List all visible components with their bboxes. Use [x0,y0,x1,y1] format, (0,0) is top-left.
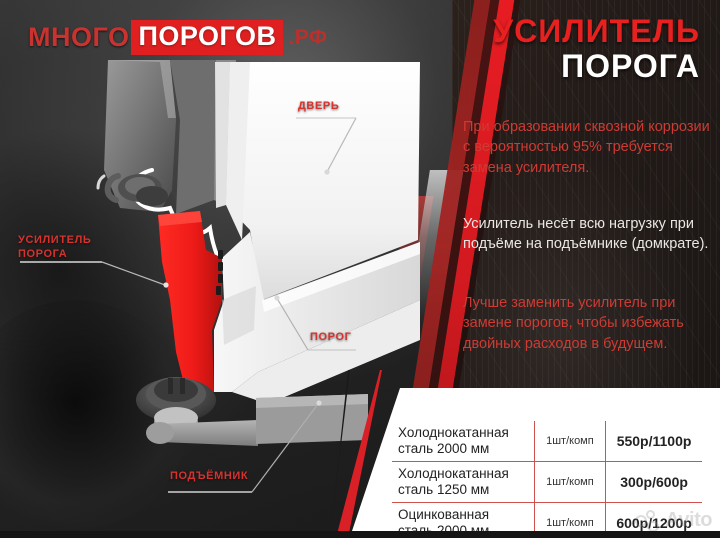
callout-door-label: ДВЕРЬ [298,100,339,114]
cell-product-name: Холоднокатанная сталь 1250 мм [392,461,535,502]
logo-tld: .РФ [288,26,327,50]
avito-watermark-label: Avito [665,509,712,532]
cell-quantity: 1шт/комп [534,421,605,462]
logo-word-porogov: ПОРОГОВ [131,20,283,55]
callout-sill-label: ПОРОГ [310,331,351,345]
description-paragraph-2: Усилитель несёт всю нагрузку при подъёме… [463,214,713,255]
avito-watermark: Avito [635,509,712,532]
brand-logo[interactable]: МНОГО ПОРОГОВ .РФ [28,20,327,55]
title-line-2: ПОРОГА [493,49,700,84]
bottom-border-bar [0,531,720,538]
callout-door: ДВЕРЬ [298,100,339,114]
avito-logo-icon [635,510,661,532]
cell-product-name: Холоднокатанная сталь 2000 мм [392,421,535,462]
callout-reinforcement: УСИЛИТЕЛЬ ПОРОГА [18,234,91,262]
title-line-1: УСИЛИТЕЛЬ [493,14,700,49]
callout-sill: ПОРОГ [310,331,351,345]
table-row: Холоднокатанная сталь 2000 мм 1шт/комп 5… [392,421,703,462]
description-paragraph-3: Лучше заменить усилитель при замене поро… [463,293,713,354]
callout-reinforcement-label: УСИЛИТЕЛЬ ПОРОГА [18,234,91,262]
cell-price: 550р/1100р [606,421,703,462]
table-row: Холоднокатанная сталь 1250 мм 1шт/комп 3… [392,461,703,502]
callout-lift-label: ПОДЪЁМНИК [170,470,248,484]
cell-price: 300р/600р [606,461,703,502]
cell-quantity: 1шт/комп [534,461,605,502]
description-paragraph-1: При образовании сквозной коррозии с веро… [463,117,713,178]
logo-word-mnogo: МНОГО [28,22,129,53]
callout-lift: ПОДЪЁМНИК [170,470,248,484]
poster-canvas: МНОГО ПОРОГОВ .РФ УСИЛИТЕЛЬ ПОРОГА При о… [0,0,720,538]
page-title: УСИЛИТЕЛЬ ПОРОГА [493,14,700,83]
